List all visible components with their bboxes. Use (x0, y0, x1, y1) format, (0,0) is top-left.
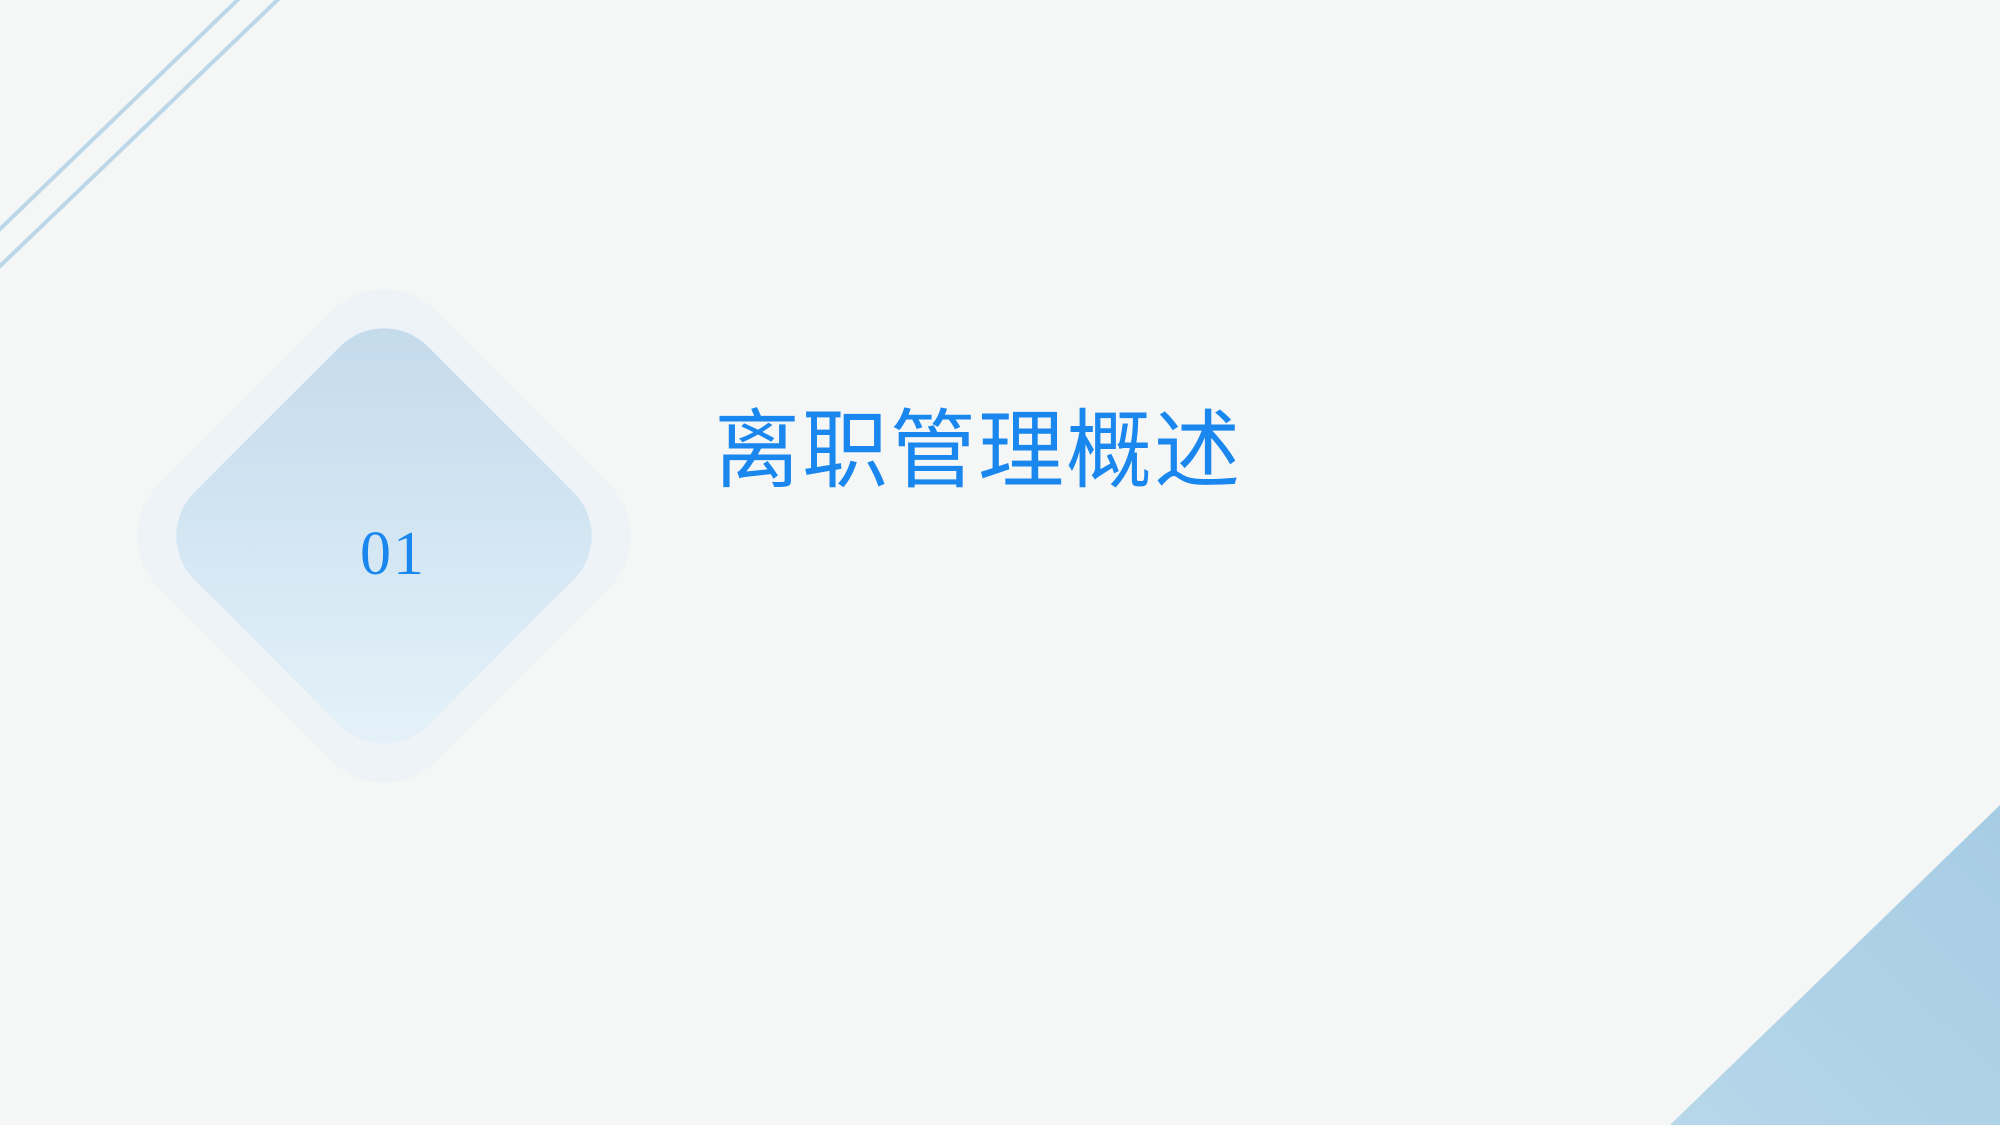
section-number-badge: 01 (110, 262, 658, 810)
section-number-label: 01 (110, 262, 658, 810)
triangle-shape (1670, 805, 2000, 1125)
corner-triangle-decoration (1670, 805, 2000, 1125)
diagonal-line-inner (0, 0, 290, 268)
diagonal-lines-decoration (0, 0, 460, 300)
page-title: 离职管理概述 (714, 400, 1242, 503)
slide-canvas: 01 离职管理概述 (0, 0, 2000, 1125)
diagonal-line-outer (0, 0, 250, 258)
